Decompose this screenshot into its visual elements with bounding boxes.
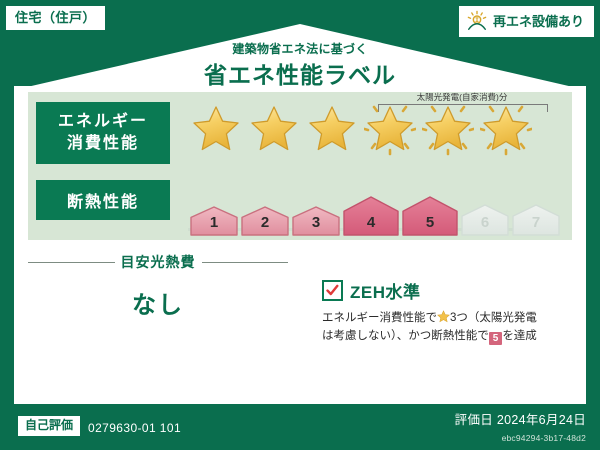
energy-label-line2: 消費性能 xyxy=(67,133,139,155)
star-icon-inline xyxy=(437,310,450,323)
label-subtitle: 建築物省エネ法に基づく xyxy=(0,40,600,57)
zeh-heading: ZEH水準 xyxy=(322,278,572,303)
label-title: 省エネ性能ラベル xyxy=(0,56,600,90)
insulation-level-number: 1 xyxy=(190,214,238,231)
insulation-level-number: 7 xyxy=(512,214,560,231)
insulation-level-6: 6 xyxy=(461,204,509,236)
insulation-label-text: 断熱性能 xyxy=(67,188,139,212)
insulation-level-5: 5 xyxy=(402,196,458,236)
insulation-level-number: 4 xyxy=(343,214,399,231)
self-evaluation-id: 0279630-01 101 xyxy=(88,421,181,435)
building-type-chip: 住宅（住戸） xyxy=(6,6,105,30)
rule-left xyxy=(28,262,115,263)
evaluation-hash: ebc94294-3b17-48d2 xyxy=(502,433,586,443)
rule-right xyxy=(202,262,289,263)
evaluation-date: 評価日 2024年6月24日 xyxy=(455,409,586,428)
star-filled xyxy=(248,104,300,156)
zeh-desc-part2: は考慮しない）、かつ断熱性能で xyxy=(322,330,489,342)
utility-cost-heading: 目安光熱費 xyxy=(28,252,288,272)
zeh-level-chip: 5 xyxy=(489,332,503,345)
star-solar xyxy=(480,104,532,156)
star-solar xyxy=(422,104,474,156)
zeh-desc-stars: 3つ（太陽光発電 xyxy=(450,312,537,324)
insulation-level-4: 4 xyxy=(343,196,399,236)
renewable-badge-label: 再エネ設備あり xyxy=(493,15,584,28)
solar-annotation-label: 太陽光発電(自家消費)分 xyxy=(374,93,550,102)
insulation-level-scale: 1234567 xyxy=(190,196,560,236)
insulation-level-number: 5 xyxy=(402,214,458,231)
insulation-level-number: 2 xyxy=(241,214,289,231)
self-evaluation-chip: 自己評価 xyxy=(18,416,80,436)
energy-star-rating xyxy=(190,104,532,156)
insulation-level-1: 1 xyxy=(190,206,238,236)
insulation-level-number: 3 xyxy=(292,214,340,231)
insulation-level-number: 6 xyxy=(461,214,509,231)
utility-cost-heading-text: 目安光熱費 xyxy=(121,252,196,272)
insulation-level-7: 7 xyxy=(512,204,560,236)
zeh-section: ZEH水準 エネルギー消費性能で3つ（太陽光発電 は考慮しない）、かつ断熱性能で… xyxy=(322,278,572,346)
utility-cost-value: なし xyxy=(28,285,288,320)
star-filled xyxy=(306,104,358,156)
zeh-checkbox xyxy=(322,280,343,301)
star-solar xyxy=(364,104,416,156)
insulation-performance-label-box: 断熱性能 xyxy=(36,180,170,220)
energy-label-line1: エネルギー xyxy=(58,111,148,133)
zeh-desc-part1: エネルギー消費性能で xyxy=(322,312,437,324)
insulation-level-3: 3 xyxy=(292,206,340,236)
star-filled xyxy=(190,104,242,156)
energy-performance-label: 住宅（住戸） 再エネ設備あり 建築物省エネ法に基づく 省エネ性能ラベル エネルギ… xyxy=(0,0,600,450)
renewable-equipment-badge: 再エネ設備あり xyxy=(459,6,594,37)
insulation-level-2: 2 xyxy=(241,206,289,236)
energy-performance-label-box: エネルギー 消費性能 xyxy=(36,102,170,164)
zeh-desc-part3: を達成 xyxy=(502,330,537,342)
check-icon xyxy=(326,284,339,297)
sun-icon xyxy=(466,10,488,32)
zeh-title: ZEH水準 xyxy=(350,278,421,303)
zeh-description: エネルギー消費性能で3つ（太陽光発電 は考慮しない）、かつ断熱性能で5を達成 xyxy=(322,310,572,346)
